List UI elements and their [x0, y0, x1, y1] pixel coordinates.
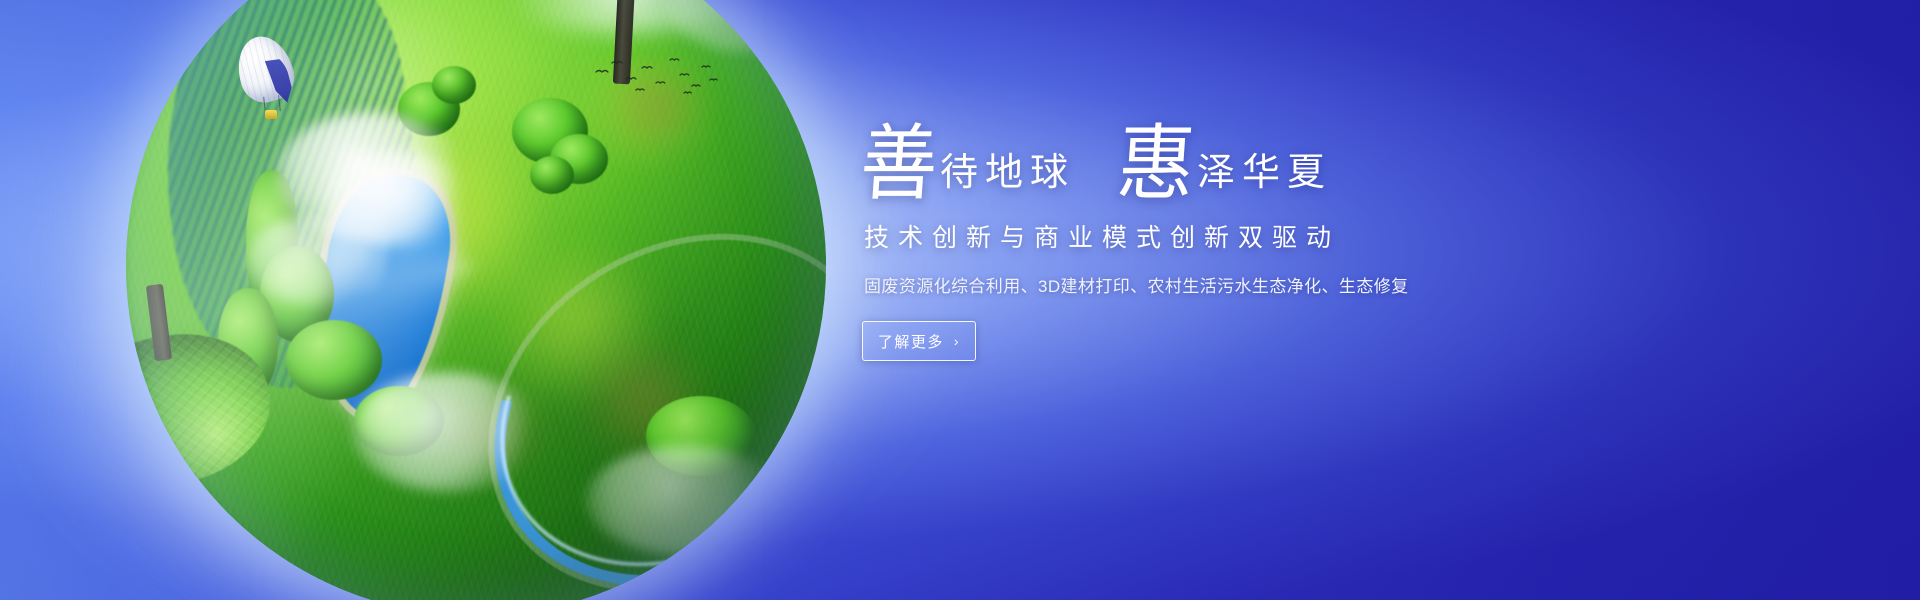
bush-icon	[432, 66, 476, 104]
headline-subtitle: 技术创新与商业模式创新双驱动	[864, 218, 1622, 254]
cloud-shape	[586, 446, 786, 556]
cloud-shape	[246, 216, 376, 306]
headline-rest-2: 泽华夏	[1197, 154, 1332, 192]
learn-more-label: 了解更多	[878, 331, 944, 352]
headline-description: 固废资源化综合利用、3D建材打印、农村生活污水生态净化、生态修复	[864, 272, 1622, 297]
page-title: 善 待地球 惠 泽华夏	[862, 128, 1622, 202]
cloud-shape	[352, 372, 542, 492]
balloon-basket	[265, 110, 277, 119]
headline-emphasis-2: 惠	[1115, 124, 1198, 207]
bush-icon	[530, 156, 574, 194]
headline-rest-1: 待地球	[940, 154, 1075, 192]
headline-emphasis-1: 善	[858, 124, 941, 207]
hero-copy: 善 待地球 惠 泽华夏 技术创新与商业模式创新双驱动 固废资源化综合利用、3D建…	[862, 128, 1622, 361]
learn-more-button[interactable]: 了解更多 ›	[862, 321, 976, 361]
bush-icon	[286, 320, 382, 400]
chevron-right-icon: ›	[954, 333, 960, 349]
hot-air-balloon-icon	[238, 36, 292, 128]
birds-flock-icon	[592, 52, 722, 98]
hero-banner: 善 待地球 惠 泽华夏 技术创新与商业模式创新双驱动 固废资源化综合利用、3D建…	[0, 0, 1920, 600]
